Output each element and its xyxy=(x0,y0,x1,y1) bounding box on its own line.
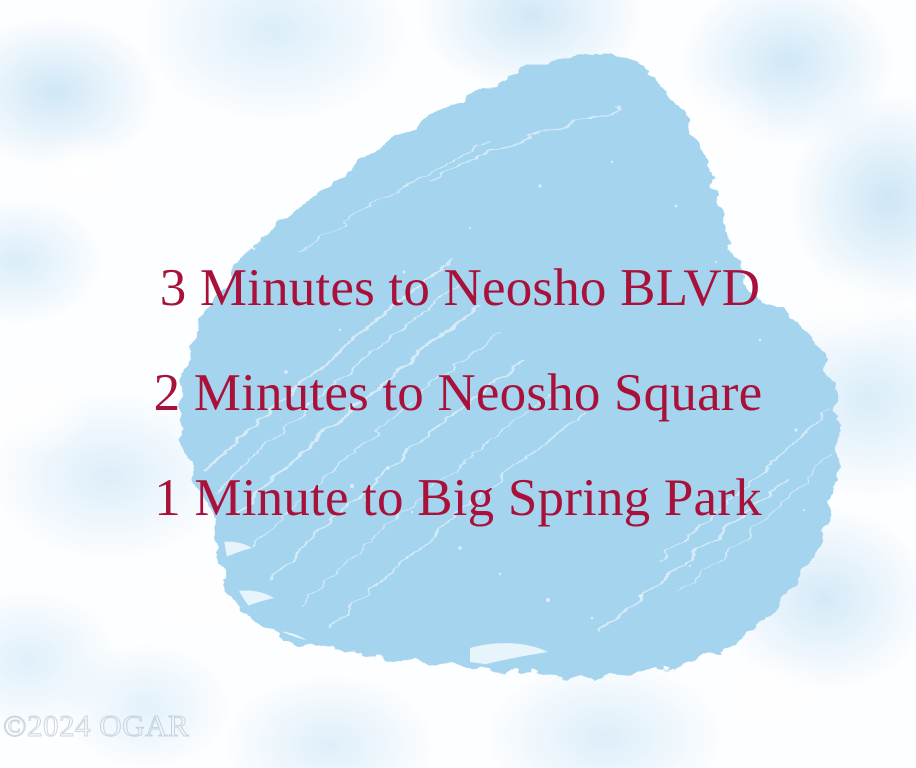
copyright-watermark: ©2024 OGAR xyxy=(3,708,189,744)
tagline-line-2: 2 Minutes to Neosho Square xyxy=(0,341,916,446)
tagline-line-1: 3 Minutes to Neosho BLVD xyxy=(0,236,916,341)
promo-graphic: 3 Minutes to Neosho BLVD 2 Minutes to Ne… xyxy=(0,0,916,768)
tagline-block: 3 Minutes to Neosho BLVD 2 Minutes to Ne… xyxy=(0,236,916,551)
tagline-line-3: 1 Minute to Big Spring Park xyxy=(0,446,916,551)
